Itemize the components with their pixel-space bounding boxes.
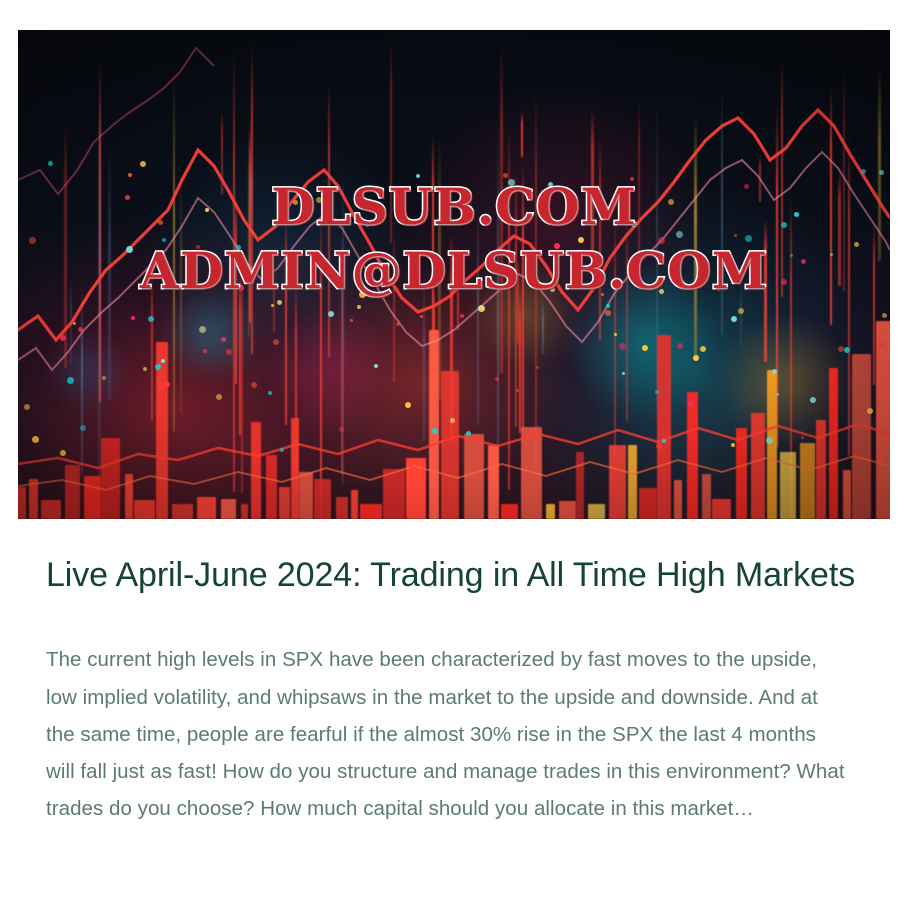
hero-artwork bbox=[18, 30, 890, 519]
hero-vignette-overlay bbox=[18, 30, 890, 519]
post-card: DLSUB.COM ADMIN@DLSUB.COM Live April-Jun… bbox=[0, 0, 924, 911]
hero-image[interactable]: DLSUB.COM ADMIN@DLSUB.COM bbox=[18, 30, 890, 519]
post-excerpt: The current high levels in SPX have been… bbox=[46, 599, 846, 827]
post-content: Live April-June 2024: Trading in All Tim… bbox=[46, 551, 856, 828]
post-title[interactable]: Live April-June 2024: Trading in All Tim… bbox=[46, 551, 856, 599]
